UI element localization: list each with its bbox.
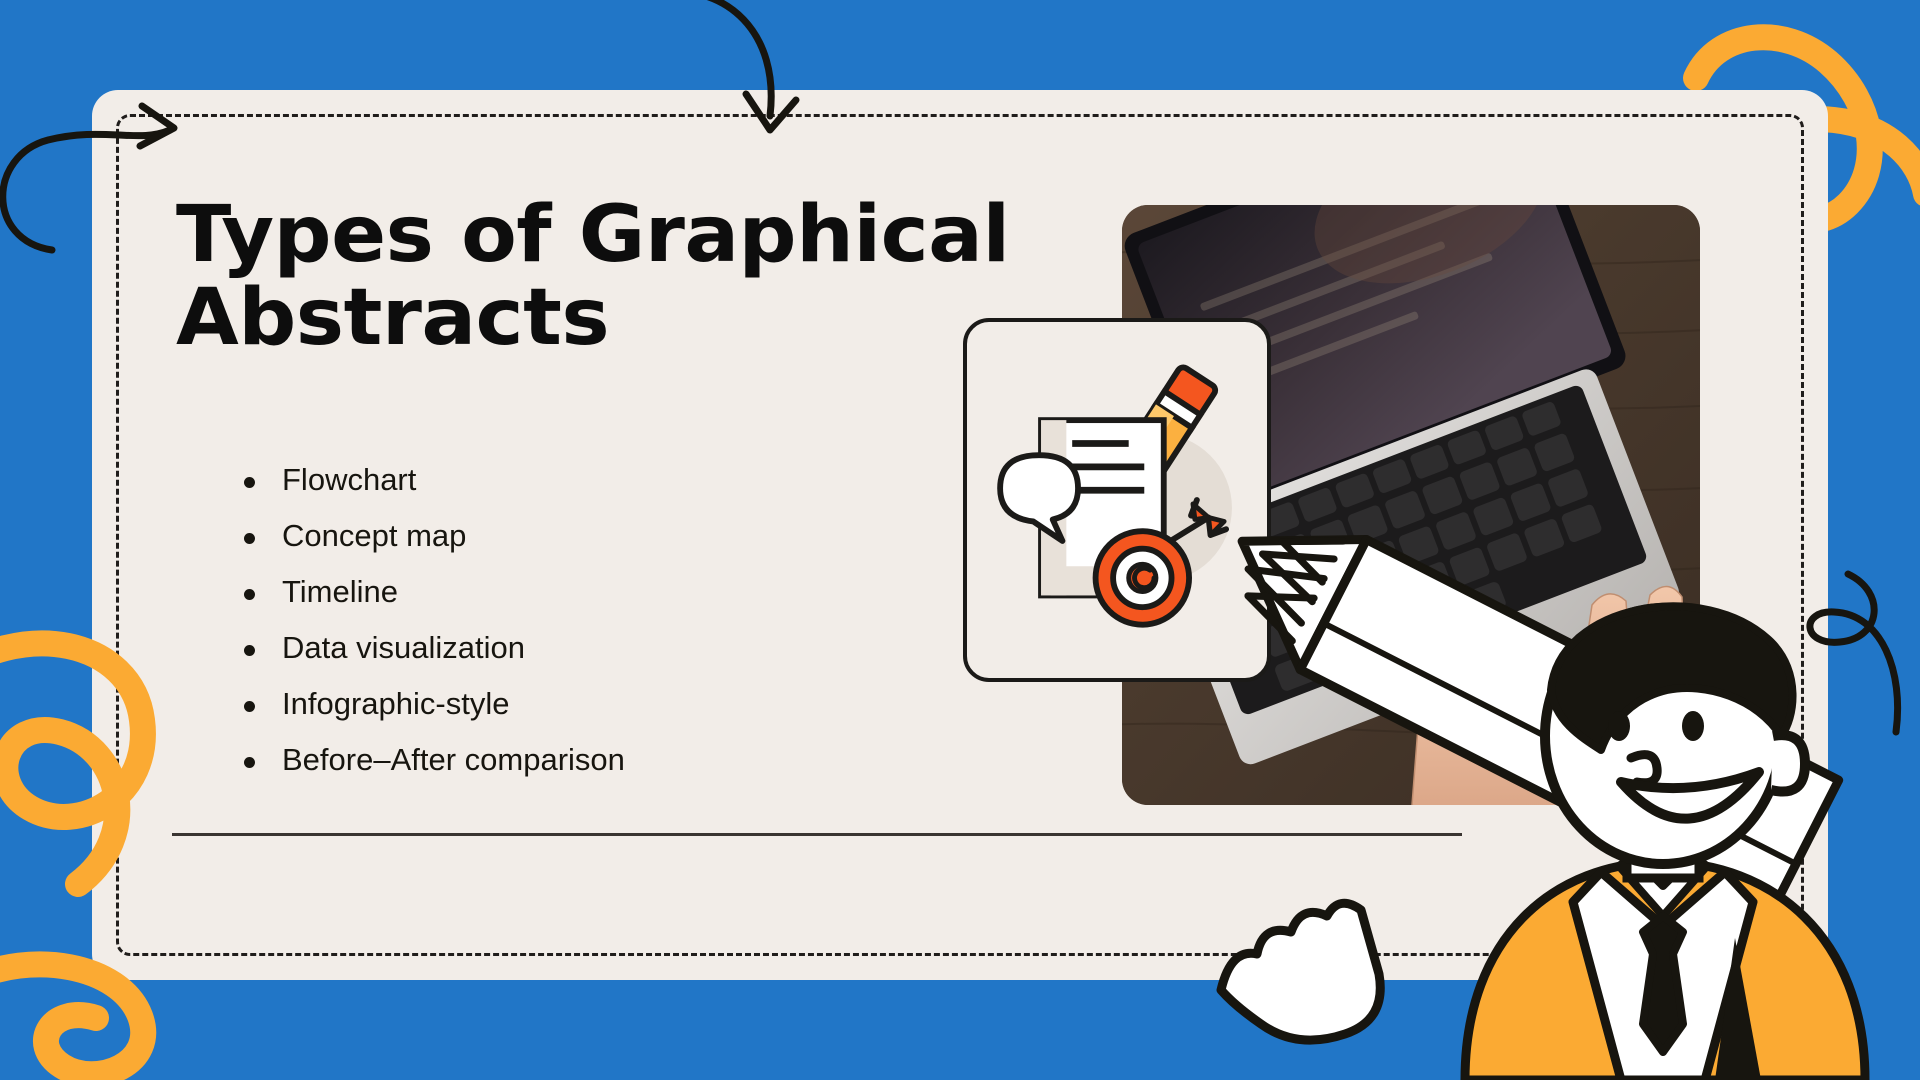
list-item: Infographic-style xyxy=(236,676,625,732)
page-title: Types of Graphical Abstracts xyxy=(176,194,1112,359)
page-title-line-1: Types of Graphical xyxy=(176,194,1112,277)
graphical-abstract-types-list: Flowchart Concept map Timeline Data visu… xyxy=(236,452,625,788)
list-item: Timeline xyxy=(236,564,625,620)
slide-canvas: Types of Graphical Abstracts Flowchart C… xyxy=(0,0,1920,1080)
list-item: Before–After comparison xyxy=(236,732,625,788)
list-item: Concept map xyxy=(236,508,625,564)
page-title-line-2: Abstracts xyxy=(176,277,1112,360)
list-item: Data visualization xyxy=(236,620,625,676)
list-item: Flowchart xyxy=(236,452,625,508)
cartoon-businessman-with-giant-pencil xyxy=(1405,586,1920,1080)
